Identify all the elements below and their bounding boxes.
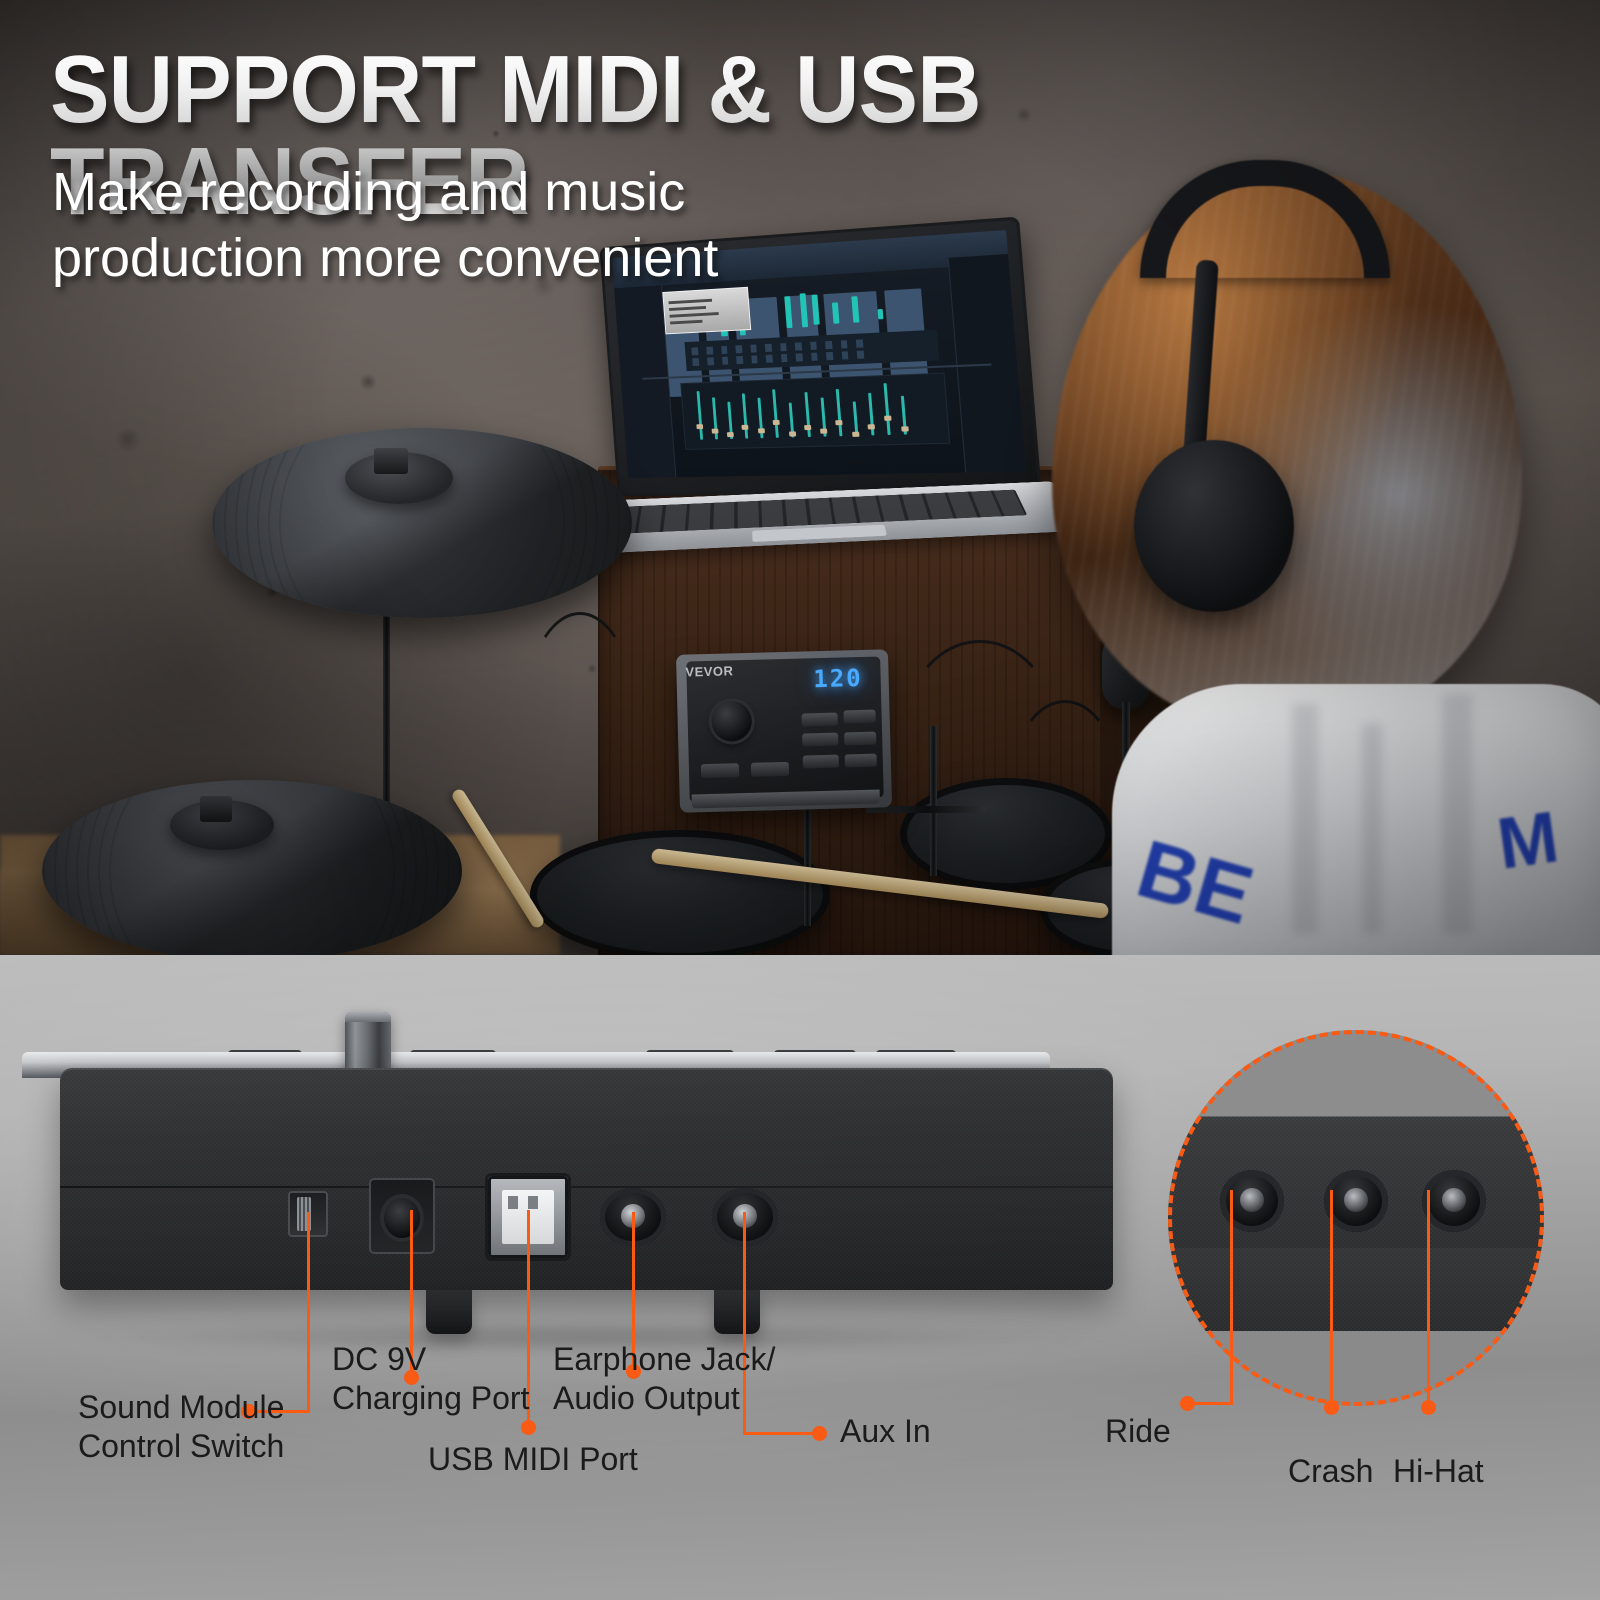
leader-crash (1330, 1190, 1333, 1406)
dc-9v-charging-port[interactable] (369, 1178, 435, 1254)
leader-dot-usb-port (521, 1420, 536, 1435)
leader-dot-crash (1324, 1400, 1339, 1415)
callout-label-crash: Crash (1288, 1452, 1373, 1491)
leader-sound-module (307, 1212, 310, 1412)
product-infographic: VEVOR 120 (0, 0, 1600, 1600)
module-texture (60, 1068, 1113, 1290)
leader-hi-hat (1427, 1190, 1430, 1406)
callout-label-sound-module-control-switch: Sound Module Control Switch (78, 1388, 284, 1466)
module-seam (60, 1186, 1113, 1188)
leader-aux-in-h (743, 1432, 819, 1435)
callout-label-usb-midi-port: USB MIDI Port (428, 1440, 638, 1479)
callout-label-earphone-jack-audio-output: Earphone Jack/ Audio Output (553, 1340, 775, 1418)
callout-label-ride: Ride (1105, 1412, 1171, 1451)
lifestyle-photo: VEVOR 120 (0, 0, 1600, 955)
callout-label-hi-hat: Hi-Hat (1393, 1452, 1484, 1491)
callout-label-dc-9v-charging-port: DC 9V Charging Port (332, 1340, 529, 1418)
callout-label-aux-in: Aux In (840, 1412, 931, 1451)
module-rear-panel (60, 1068, 1113, 1290)
leader-dot-ride (1180, 1396, 1195, 1411)
leader-ride (1230, 1190, 1233, 1404)
leader-dot-aux-in (812, 1426, 827, 1441)
page-subtitle: Make recording and music production more… (52, 160, 812, 292)
leader-dot-hi-hat (1421, 1400, 1436, 1415)
inset-dashed-ring (1168, 1030, 1544, 1406)
